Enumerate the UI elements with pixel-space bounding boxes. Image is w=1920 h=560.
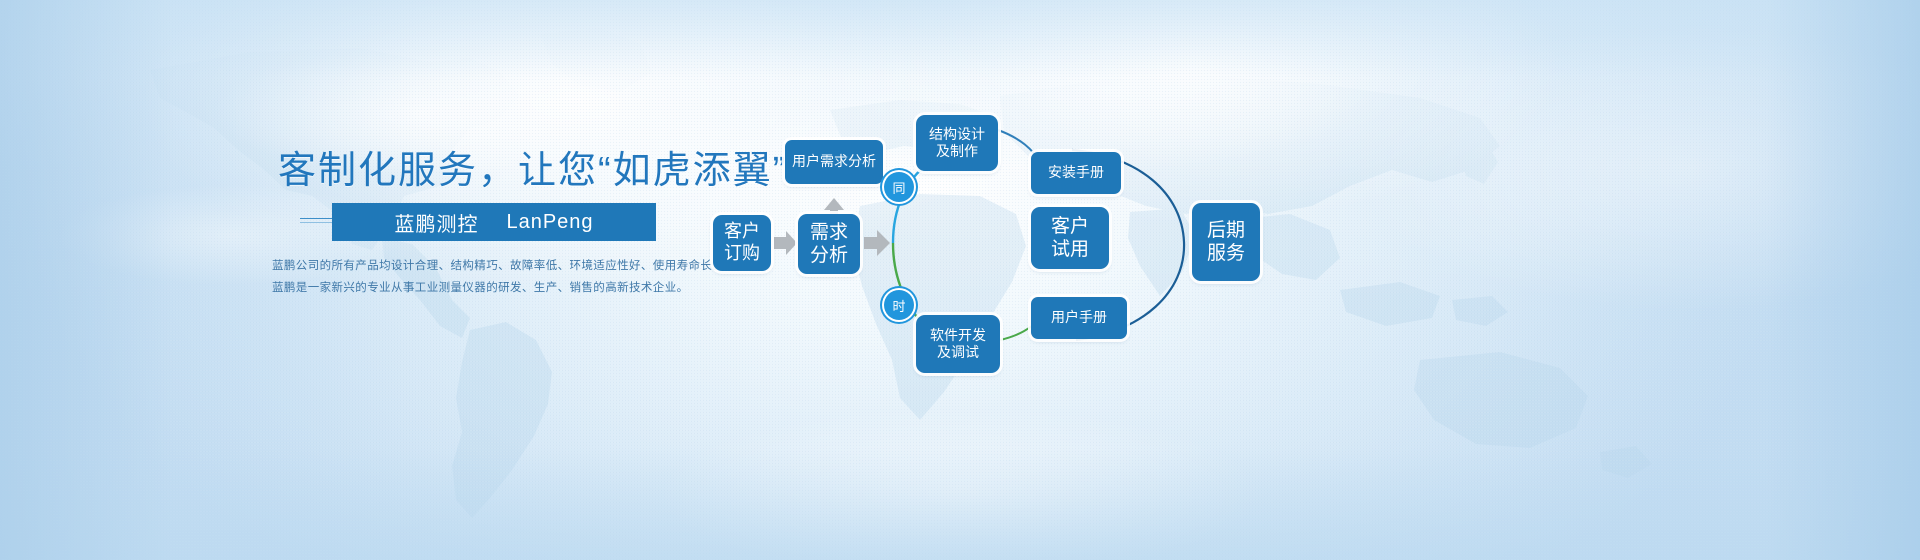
- process-flow-diagram: 用户需求分析 客户 订购 需求 分析 结构设计 及制作 软件开发 及调试 安装手…: [0, 0, 1920, 560]
- banner-stage: 客制化服务，让您“如虎添翼” 蓝鹏测控 LanPeng 蓝鹏公司的所有产品均设计…: [0, 0, 1920, 560]
- flow-connectors: [0, 0, 1920, 560]
- flow-node-installation-manual[interactable]: 安装手册: [1031, 152, 1121, 194]
- flow-node-after-service[interactable]: 后期 服务: [1192, 203, 1260, 281]
- flow-node-software-development[interactable]: 软件开发 及调试: [916, 315, 1000, 373]
- flow-node-customer-order[interactable]: 客户 订购: [713, 215, 771, 271]
- flow-node-customer-trial[interactable]: 客户 试用: [1031, 207, 1109, 269]
- flow-badge-tong: 同: [884, 172, 914, 202]
- arrow-analysis-to-cycle: [864, 230, 890, 256]
- flow-badge-shi: 时: [884, 290, 914, 320]
- flow-node-user-manual[interactable]: 用户手册: [1031, 297, 1127, 339]
- flow-node-structural-design[interactable]: 结构设计 及制作: [916, 115, 998, 171]
- flow-node-requirement-analysis[interactable]: 需求 分析: [798, 214, 860, 274]
- flow-node-user-requirement-analysis[interactable]: 用户需求分析: [785, 140, 883, 184]
- arrow-order-to-analysis: [774, 231, 797, 255]
